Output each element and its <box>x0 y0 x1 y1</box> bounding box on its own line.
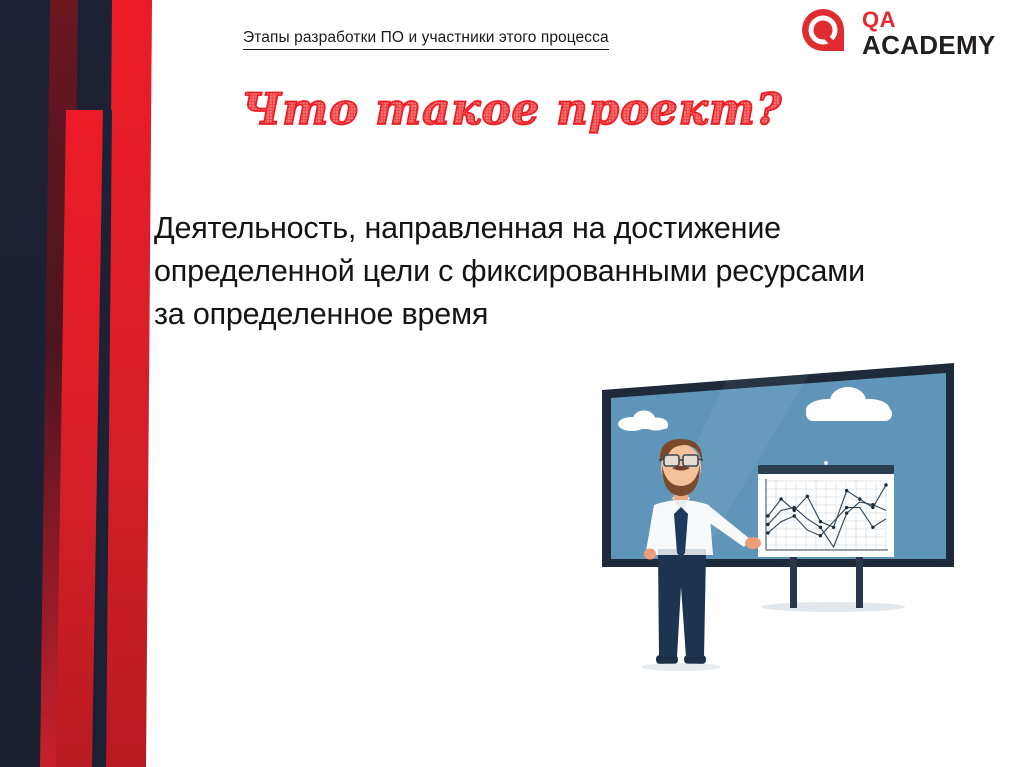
chart-point <box>819 526 822 529</box>
logo-line-academy: ACADEMY <box>862 32 996 59</box>
qa-magnifier-icon <box>800 7 854 62</box>
chart-point <box>845 506 848 509</box>
chart-point <box>871 526 874 529</box>
person-shadow <box>641 663 721 671</box>
body-line-1: Деятельность, направленная на достижение <box>154 207 1024 250</box>
flipchart-clip <box>824 461 828 465</box>
chart-point <box>819 520 822 523</box>
chart-point <box>845 511 848 514</box>
flipchart-leg-left <box>790 550 797 608</box>
bright-red-stripe-main <box>106 0 152 767</box>
flipchart-top-bar <box>758 465 894 474</box>
chart-point <box>858 497 861 500</box>
chart-point <box>806 495 809 498</box>
chart-point <box>766 531 769 534</box>
body-line-2: определенной цели с фиксированными ресур… <box>154 250 1024 293</box>
header-breadcrumb-title: Этапы разработки ПО и участники этого пр… <box>243 29 609 50</box>
chart-point <box>766 523 769 526</box>
chart-point <box>793 514 796 517</box>
shirt-hem-shadow <box>658 549 706 555</box>
logo-line-qa: QA <box>862 9 996 31</box>
chart-point <box>819 534 822 537</box>
chart-point <box>845 489 848 492</box>
body-line-3: за определенное время <box>154 293 1024 336</box>
qa-academy-wordmark: QA ACADEMY <box>862 9 996 59</box>
flipchart-shadow <box>761 602 905 612</box>
trousers <box>658 553 706 657</box>
chart-point <box>793 506 796 509</box>
hand-right <box>745 537 761 549</box>
chart-point <box>832 526 835 529</box>
chart-point <box>766 514 769 517</box>
chart-point <box>871 503 874 506</box>
qa-academy-logo[interactable]: QA ACADEMY <box>800 5 1015 63</box>
presentation-slide: Этапы разработки ПО и участники этого пр… <box>0 0 1024 767</box>
flipchart-leg-right <box>856 550 863 608</box>
slide-body-text: Деятельность, направленная на достижение… <box>154 207 1024 336</box>
chart-point <box>779 497 782 500</box>
slide-header: Этапы разработки ПО и участники этого пр… <box>0 0 1024 70</box>
slide-illustration <box>580 355 980 695</box>
left-decorative-stripes <box>0 0 175 767</box>
slide-title-text: Что такое проект? <box>242 84 783 135</box>
hand-left <box>644 549 656 560</box>
line-chart-flipchart <box>758 461 894 608</box>
chart-point <box>884 483 887 486</box>
